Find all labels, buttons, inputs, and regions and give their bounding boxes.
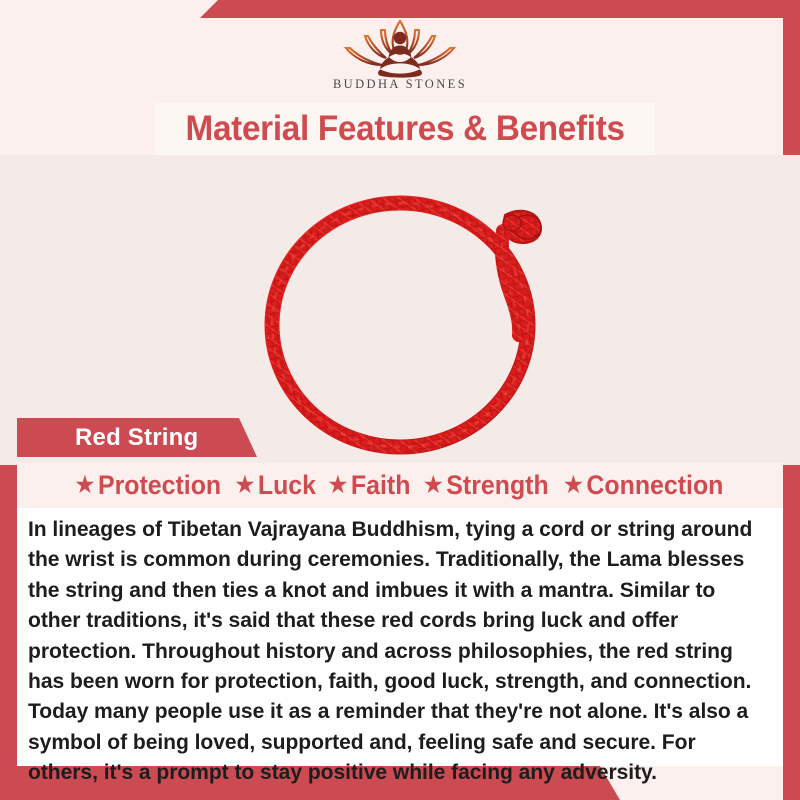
description-panel: In lineages of Tibetan Vajrayana Buddhis… (17, 508, 783, 766)
brand-header: BUDDHA STONES (0, 0, 800, 105)
keyword-faith: ★ Faith (328, 470, 410, 501)
title-band: Material Features & Benefits (155, 103, 655, 155)
keyword-luck: ★ Luck (236, 470, 316, 501)
lotus-meditation-icon (332, 12, 468, 78)
keyword-protection: ★ Protection (76, 470, 221, 501)
keyword-label: Luck (258, 470, 316, 501)
star-icon: ★ (76, 474, 95, 496)
star-icon: ★ (424, 474, 443, 496)
keyword-label: Protection (98, 470, 221, 501)
brand-name: BUDDHA STONES (333, 77, 467, 92)
product-name-label: Red String (75, 424, 198, 452)
page-title: Material Features & Benefits (185, 109, 624, 149)
keyword-label: Connection (587, 470, 724, 501)
product-name-banner: Red String (17, 418, 257, 457)
star-icon: ★ (236, 474, 255, 496)
keyword-strength: ★ Strength (424, 470, 549, 501)
description-text: In lineages of Tibetan Vajrayana Buddhis… (28, 514, 758, 788)
infographic-page: BUDDHA STONES Material Features & Benefi… (0, 0, 800, 800)
benefit-keywords: ★ Protection ★ Luck ★ Faith ★ Strength ★… (17, 463, 783, 508)
keyword-label: Strength (446, 470, 548, 501)
star-icon: ★ (564, 474, 583, 496)
keyword-connection: ★ Connection (564, 470, 723, 501)
keyword-label: Faith (350, 470, 410, 501)
star-icon: ★ (328, 474, 347, 496)
